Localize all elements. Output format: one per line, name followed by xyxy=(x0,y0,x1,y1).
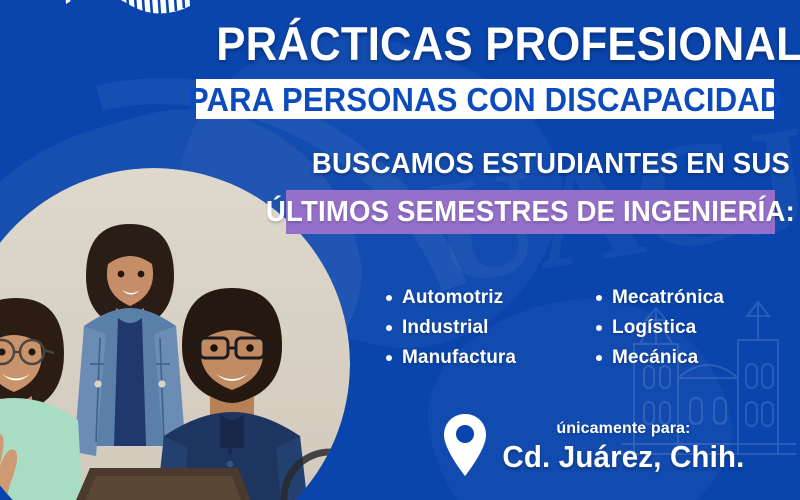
list-item: Mecatrónica xyxy=(596,284,786,311)
program-label: Logística xyxy=(612,314,696,341)
location-city: Cd. Juárez, Chih. xyxy=(502,439,744,475)
bullet-dot-icon xyxy=(596,325,602,331)
location-label: únicamente para: xyxy=(556,419,690,439)
map-pin-icon xyxy=(440,410,490,480)
program-label: Mecánica xyxy=(612,344,698,371)
programs-list: Automotriz Industrial Manufactura Mecatr… xyxy=(386,284,786,371)
program-label: Automotriz xyxy=(402,284,503,311)
location-text-group: únicamente para: Cd. Juárez, Chih. xyxy=(496,415,751,475)
list-item: Mecánica xyxy=(596,344,786,371)
programs-column-2: Mecatrónica Logística Mecánica xyxy=(596,284,786,371)
list-item: Automotriz xyxy=(386,284,596,311)
bullet-dot-icon xyxy=(596,295,602,301)
list-item: Industrial xyxy=(386,314,596,341)
program-label: Manufactura xyxy=(402,344,516,371)
poster-title-box: PARA PERSONAS CON DISCAPACIDAD xyxy=(196,79,774,119)
bullet-dot-icon xyxy=(386,355,392,361)
poster-title-line-2: PARA PERSONAS CON DISCAPACIDAD xyxy=(188,83,782,116)
bullet-dot-icon xyxy=(596,355,602,361)
bullet-dot-icon xyxy=(386,295,392,301)
program-label: Industrial xyxy=(402,314,489,341)
promotional-poster: UACJ xyxy=(0,0,800,500)
list-item: Logística xyxy=(596,314,786,341)
programs-column-1: Automotriz Industrial Manufactura xyxy=(386,284,596,371)
location-footer: únicamente para: Cd. Juárez, Chih. xyxy=(440,410,751,480)
bullet-dot-icon xyxy=(386,325,392,331)
program-label: Mecatrónica xyxy=(612,284,724,311)
poster-title-line-1: PRÁCTICAS PROFESIONALES xyxy=(216,16,754,72)
poster-subtitle-line-2: ÚLTIMOS SEMESTRES DE INGENIERÍA: xyxy=(266,197,795,227)
poster-subtitle-line-1: BUSCAMOS ESTUDIANTES EN SUS xyxy=(312,147,763,181)
poster-subtitle-band: ÚLTIMOS SEMESTRES DE INGENIERÍA: xyxy=(286,190,775,234)
list-item: Manufactura xyxy=(386,344,596,371)
